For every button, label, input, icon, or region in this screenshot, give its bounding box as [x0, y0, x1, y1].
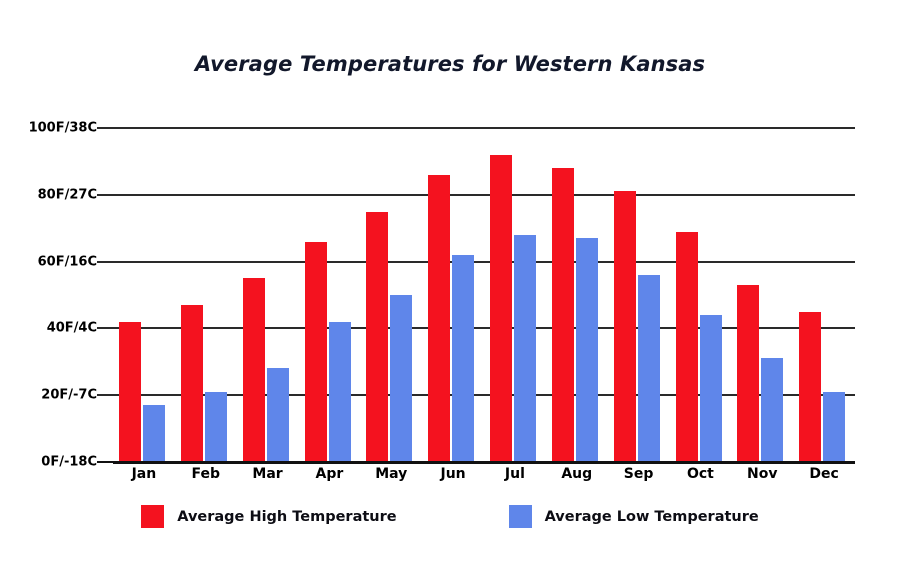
bar-low-temperature [267, 368, 289, 462]
chart-title: Average Temperatures for Western Kansas [0, 52, 900, 76]
bar-high-temperature [799, 312, 821, 462]
x-axis-tick-label: Apr [299, 466, 361, 482]
bar-group [175, 128, 237, 462]
x-axis-tick-label: Jun [422, 466, 484, 482]
bar-low-temperature [761, 358, 783, 462]
legend-item-label: Average Low Temperature [545, 509, 759, 525]
chart-legend: Average High TemperatureAverage Low Temp… [0, 505, 900, 528]
bar-group [608, 128, 670, 462]
bar-high-temperature [614, 191, 636, 462]
bars-layer [113, 128, 855, 462]
y-tick-mark-0 [97, 461, 113, 463]
y-tick-mark-80 [97, 194, 113, 196]
x-axis-labels: JanFebMarAprMayJunJulAugSepOctNovDec [113, 466, 855, 492]
bar-high-temperature [243, 278, 265, 462]
bar-group [360, 128, 422, 462]
bar-low-temperature [514, 235, 536, 462]
y-axis-tick-label: 60F/16C [0, 254, 97, 269]
bar-low-temperature [205, 392, 227, 462]
x-axis-tick-label: Sep [608, 466, 670, 482]
y-axis-labels: 100F/38C80F/27C60F/16C40F/4C20F/-7C0F/-1… [0, 128, 97, 462]
x-axis-line [113, 461, 855, 464]
bar-low-temperature [390, 295, 412, 462]
bar-high-temperature [119, 322, 141, 462]
bar-group [422, 128, 484, 462]
bar-high-temperature [428, 175, 450, 462]
bar-group [237, 128, 299, 462]
x-axis-tick-label: Feb [175, 466, 237, 482]
bar-group [793, 128, 855, 462]
x-axis-tick-label: Mar [237, 466, 299, 482]
temperature-bar-chart: Average Temperatures for Western Kansas … [0, 0, 900, 576]
bar-low-temperature [823, 392, 845, 462]
legend-item: Average High Temperature [141, 505, 396, 528]
bar-low-temperature [576, 238, 598, 462]
x-axis-tick-label: Oct [670, 466, 732, 482]
x-axis-tick-label: Aug [546, 466, 608, 482]
bar-high-temperature [490, 155, 512, 462]
bar-group [299, 128, 361, 462]
y-axis-tick-label: 40F/4C [0, 321, 97, 336]
y-tick-mark-20 [97, 394, 113, 396]
bar-group [484, 128, 546, 462]
bar-group [546, 128, 608, 462]
x-axis-tick-label: Jul [484, 466, 546, 482]
x-axis-tick-label: May [360, 466, 422, 482]
legend-swatch-high [141, 505, 164, 528]
bar-high-temperature [737, 285, 759, 462]
bar-high-temperature [552, 168, 574, 462]
bar-high-temperature [366, 212, 388, 463]
bar-low-temperature [143, 405, 165, 462]
legend-item-label: Average High Temperature [177, 509, 396, 525]
bar-group [731, 128, 793, 462]
bar-group [113, 128, 175, 462]
bar-low-temperature [452, 255, 474, 462]
bar-high-temperature [676, 232, 698, 462]
x-axis-tick-label: Nov [731, 466, 793, 482]
legend-item: Average Low Temperature [509, 505, 759, 528]
legend-swatch-low [509, 505, 532, 528]
bar-high-temperature [181, 305, 203, 462]
y-axis-tick-label: 80F/27C [0, 187, 97, 202]
x-axis-tick-label: Dec [793, 466, 855, 482]
y-tick-mark-60 [97, 261, 113, 263]
bar-group [670, 128, 732, 462]
y-axis-tick-label: 20F/-7C [0, 388, 97, 403]
y-tick-mark-40 [97, 327, 113, 329]
bar-low-temperature [329, 322, 351, 462]
x-axis-tick-label: Jan [113, 466, 175, 482]
y-axis-tick-label: 100F/38C [0, 121, 97, 136]
bar-high-temperature [305, 242, 327, 462]
bar-low-temperature [638, 275, 660, 462]
y-axis-tick-label: 0F/-18C [0, 455, 97, 470]
y-tick-mark-100 [97, 127, 113, 129]
bar-low-temperature [700, 315, 722, 462]
